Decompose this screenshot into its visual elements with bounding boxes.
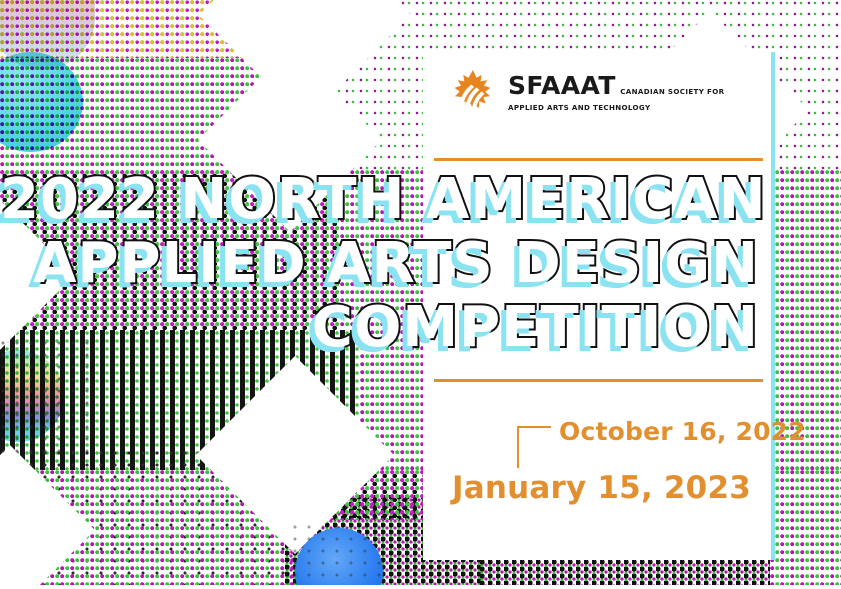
- divider-rule-top: [434, 158, 763, 161]
- background-white-gap-bottom: [0, 585, 841, 589]
- date-start: October 16, 2022: [559, 417, 806, 446]
- halftone-overlay-blue-circle: [292, 524, 392, 589]
- logo-title: SFAAAT: [508, 71, 616, 100]
- halftone-overlay-blobs: [0, 340, 92, 460]
- event-dates: October 16, 2022 January 15, 2023: [437, 417, 767, 506]
- date-end: January 15, 2023: [433, 470, 767, 506]
- organization-logo: SFAAAT CANADIAN SOCIETY FOR APPLIED ARTS…: [447, 68, 724, 118]
- maple-leaf-flame-icon: [447, 68, 499, 118]
- content-card: SFAAAT CANADIAN SOCIETY FOR APPLIED ARTS…: [423, 52, 775, 560]
- logo-wordmark: SFAAAT CANADIAN SOCIETY FOR APPLIED ARTS…: [508, 73, 724, 114]
- divider-rule-bottom: [434, 379, 763, 382]
- corner-bracket-icon: [517, 426, 551, 468]
- date-start-row: October 16, 2022: [437, 417, 767, 468]
- halftone-field-right-edge: [770, 470, 841, 589]
- poster-canvas: SFAAAT CANADIAN SOCIETY FOR APPLIED ARTS…: [0, 0, 841, 589]
